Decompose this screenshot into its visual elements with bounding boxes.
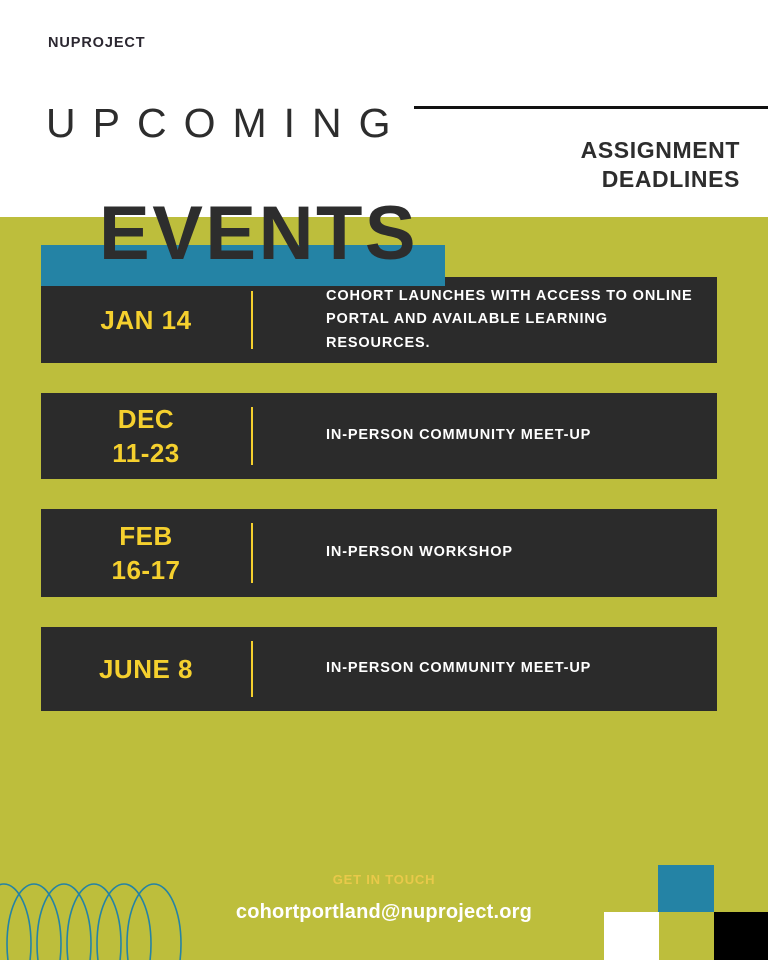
event-card: JAN 14 COHORT LAUNCHES WITH ACCESS TO ON…	[41, 277, 717, 363]
page-title-lower: EVENTS	[99, 196, 418, 272]
event-description: IN-PERSON WORKSHOP	[253, 541, 717, 564]
footer-kicker-label: GET IN TOUCH	[0, 872, 768, 887]
event-card: DEC 11-23 IN-PERSON COMMUNITY MEET-UP	[41, 393, 717, 479]
page-title-lower-row: EVENTS	[41, 153, 408, 225]
brand-logo-text: NUPROJECT	[48, 35, 146, 51]
event-description: IN-PERSON COMMUNITY MEET-UP	[253, 424, 717, 447]
footer-email-address[interactable]: cohortportland@nuproject.org	[0, 901, 768, 924]
event-card: FEB 16-17 IN-PERSON WORKSHOP	[41, 509, 717, 597]
event-date: JAN 14	[41, 303, 251, 337]
assignment-deadlines-line1: ASSIGNMENT	[581, 136, 740, 165]
event-description: IN-PERSON COMMUNITY MEET-UP	[253, 657, 717, 680]
event-card: JUNE 8 IN-PERSON COMMUNITY MEET-UP	[41, 627, 717, 711]
header-divider-rule	[414, 106, 768, 109]
event-date: JUNE 8	[41, 652, 251, 686]
event-date: DEC 11-23	[41, 402, 251, 471]
event-date: FEB 16-17	[41, 519, 251, 588]
assignment-deadlines-heading: ASSIGNMENT DEADLINES	[581, 136, 740, 195]
assignment-deadlines-line2: DEADLINES	[581, 165, 740, 194]
page-title: UPCOMING EVENTS	[41, 103, 408, 225]
event-description: COHORT LAUNCHES WITH ACCESS TO ONLINE PO…	[253, 285, 717, 355]
events-list: JAN 14 COHORT LAUNCHES WITH ACCESS TO ON…	[41, 277, 717, 741]
footer-contact: GET IN TOUCH cohortportland@nuproject.or…	[0, 872, 768, 924]
page-title-upper: UPCOMING	[41, 103, 408, 144]
